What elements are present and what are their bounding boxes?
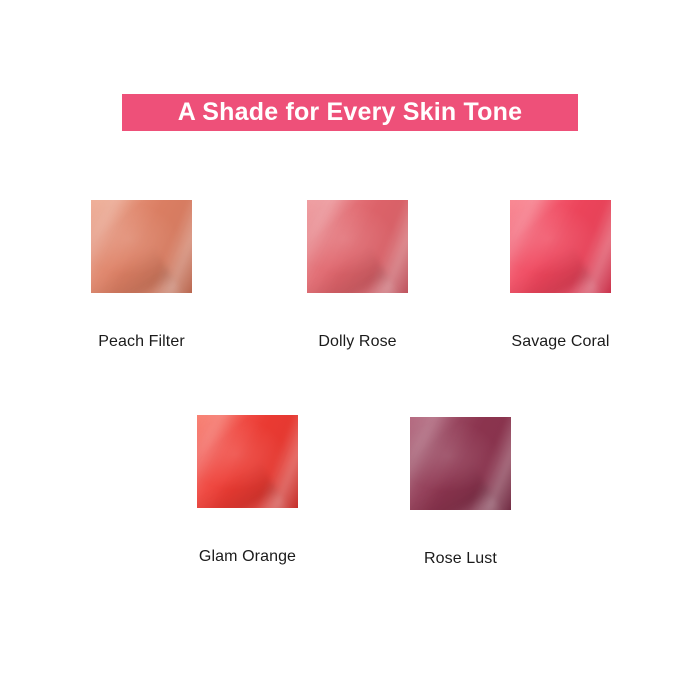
- gloss-streak-icon: [197, 415, 275, 508]
- gloss-smear-icon: [410, 462, 504, 510]
- shade-card-peach-filter[interactable]: Peach Filter: [91, 200, 192, 350]
- shade-label-rose-lust: Rose Lust: [424, 551, 497, 567]
- gloss-sheen-icon: [410, 417, 511, 510]
- gloss-smear-icon: [197, 460, 291, 508]
- swatch-rose-lust[interactable]: [410, 417, 511, 510]
- gloss-highlight-icon: [459, 417, 511, 510]
- shade-card-rose-lust[interactable]: Rose Lust: [410, 417, 511, 567]
- gloss-streak-icon: [510, 200, 588, 293]
- gloss-sheen-icon: [307, 200, 408, 293]
- gloss-streak-icon: [307, 200, 385, 293]
- shade-label-glam-orange: Glam Orange: [199, 549, 296, 565]
- swatch-savage-coral[interactable]: [510, 200, 611, 293]
- page-title: A Shade for Every Skin Tone: [178, 100, 522, 125]
- gloss-highlight-icon: [140, 200, 192, 293]
- gloss-smear-icon: [91, 245, 185, 293]
- gloss-smear-icon: [510, 245, 604, 293]
- title-banner: A Shade for Every Skin Tone: [122, 94, 578, 131]
- shade-card-glam-orange[interactable]: Glam Orange: [197, 415, 298, 565]
- swatch-glam-orange[interactable]: [197, 415, 298, 508]
- gloss-smear-icon: [307, 245, 401, 293]
- gloss-highlight-icon: [246, 415, 298, 508]
- swatch-peach-filter[interactable]: [91, 200, 192, 293]
- gloss-sheen-icon: [197, 415, 298, 508]
- swatch-dolly-rose[interactable]: [307, 200, 408, 293]
- gloss-streak-icon: [91, 200, 169, 293]
- shade-card-savage-coral[interactable]: Savage Coral: [510, 200, 611, 350]
- shade-label-savage-coral: Savage Coral: [511, 334, 609, 350]
- gloss-highlight-icon: [559, 200, 611, 293]
- gloss-sheen-icon: [91, 200, 192, 293]
- shade-card-dolly-rose[interactable]: Dolly Rose: [307, 200, 408, 350]
- gloss-streak-icon: [410, 417, 488, 510]
- gloss-sheen-icon: [510, 200, 611, 293]
- shade-chart-page: A Shade for Every Skin Tone Peach Filter…: [0, 0, 700, 700]
- shade-label-peach-filter: Peach Filter: [98, 334, 185, 350]
- shade-label-dolly-rose: Dolly Rose: [318, 334, 396, 350]
- gloss-highlight-icon: [356, 200, 408, 293]
